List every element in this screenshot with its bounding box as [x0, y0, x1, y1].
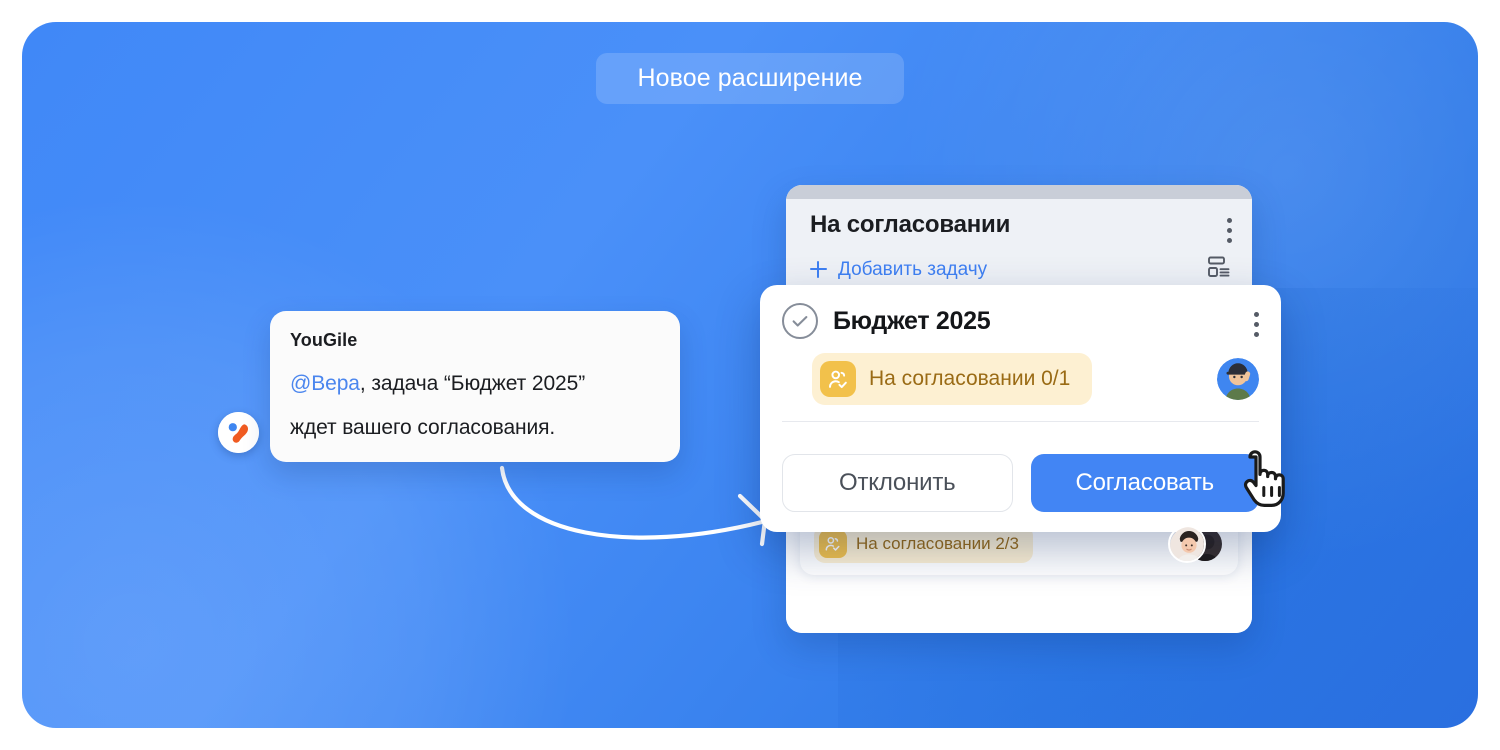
yougile-logo-icon — [218, 412, 259, 453]
notification-app-name: YouGile — [290, 330, 656, 351]
notification-card: YouGile @Вера, задача “Бюджет 2025” ждет… — [270, 311, 680, 462]
approval-popup-title: Бюджет 2025 — [833, 307, 1239, 336]
avatar — [1168, 525, 1206, 563]
column-title: На согласовании — [810, 211, 1010, 239]
header-chip-label: Новое расширение — [637, 64, 862, 93]
notification-line-2: ждет вашего согласования. — [290, 416, 656, 440]
approval-users-icon — [819, 530, 847, 558]
approve-button[interactable]: Согласовать — [1031, 454, 1260, 512]
kebab-menu-icon[interactable] — [1227, 211, 1232, 243]
list-view-icon[interactable] — [1206, 254, 1232, 285]
approval-users-icon — [820, 361, 856, 397]
avatar — [1217, 358, 1259, 400]
column-header: На согласовании Добавить задачу — [786, 199, 1252, 299]
kebab-menu-icon[interactable] — [1254, 305, 1259, 337]
mention-link[interactable]: @Вера — [290, 372, 360, 395]
column-top-strip — [786, 185, 1252, 199]
add-task-label: Добавить задачу — [838, 259, 987, 281]
approval-popup: Бюджет 2025 На согласовании 0/1 — [760, 285, 1281, 532]
header-chip: Новое расширение — [596, 53, 904, 104]
add-task-button[interactable]: Добавить задачу — [810, 259, 987, 281]
check-circle-icon[interactable] — [782, 303, 818, 339]
plus-icon — [810, 261, 827, 278]
reject-button[interactable]: Отклонить — [782, 454, 1013, 512]
status-badge-label: На согласовании 2/3 — [856, 534, 1019, 554]
status-badge: На согласовании 0/1 — [812, 353, 1092, 405]
divider — [782, 421, 1259, 422]
notification-line-1-rest: , задача “Бюджет 2025” — [360, 372, 585, 395]
screenshot-root: Новое расширение На согласовании Добавит… — [0, 0, 1500, 750]
notification-line-1: @Вера, задача “Бюджет 2025” — [290, 372, 656, 396]
status-badge-label: На согласовании 0/1 — [869, 367, 1070, 391]
